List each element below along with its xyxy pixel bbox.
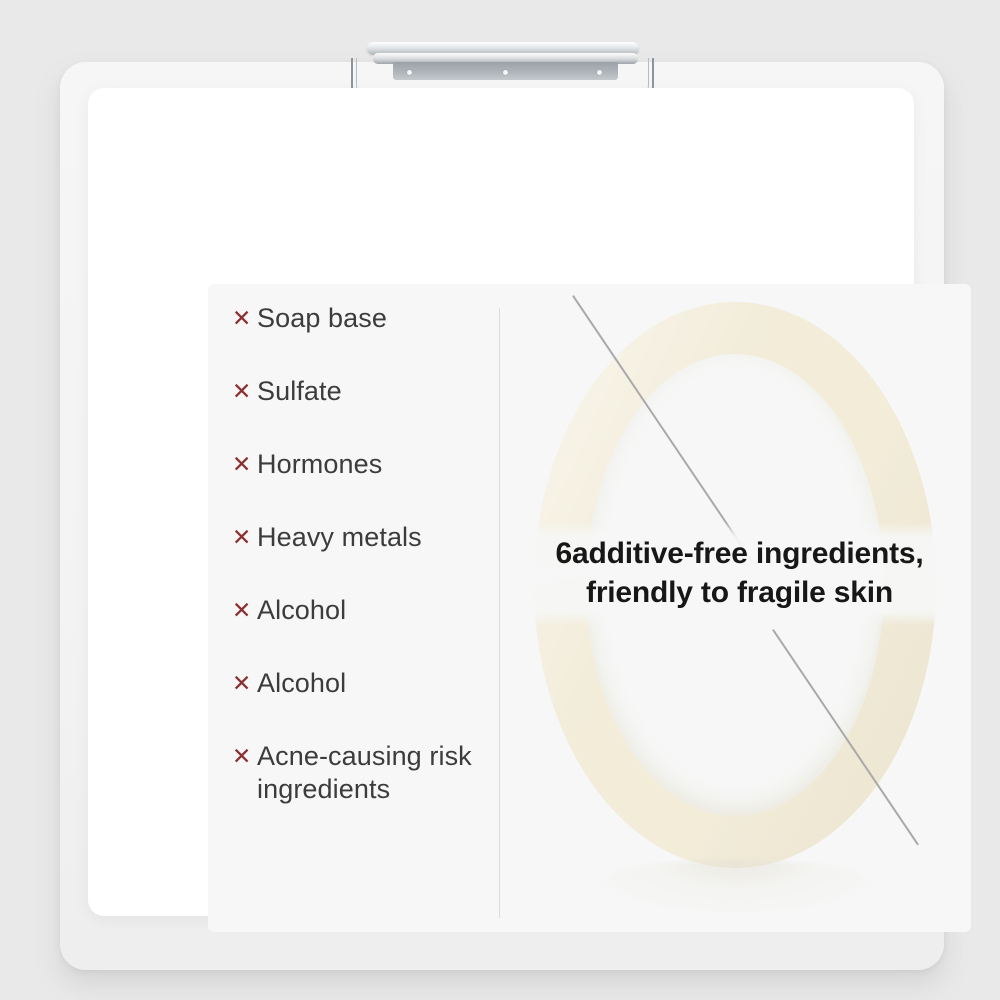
list-item: ✕ Soap base (232, 302, 494, 335)
list-item: ✕ Sulfate (232, 375, 494, 408)
list-item-label: Heavy metals (254, 521, 494, 554)
list-item-label: Alcohol (254, 594, 494, 627)
list-item: ✕ Alcohol (232, 594, 494, 627)
clip-rivet-icon (597, 70, 602, 75)
list-item-label: Acne-causing risk ingredients (254, 740, 494, 806)
list-item-label: Sulfate (254, 375, 494, 408)
list-item-label: Alcohol (254, 667, 494, 700)
content-panel: ✕ Soap base ✕ Sulfate ✕ Hormones ✕ Heavy… (208, 284, 971, 932)
excluded-ingredients-list: ✕ Soap base ✕ Sulfate ✕ Hormones ✕ Heavy… (232, 302, 494, 914)
headline: 6additive-free ingredients, friendly to … (500, 522, 971, 626)
x-cross-icon: ✕ (232, 740, 254, 773)
headline-line-2: friendly to fragile skin (504, 573, 971, 612)
list-item: ✕ Alcohol (232, 667, 494, 700)
list-item-label: Hormones (254, 448, 494, 481)
clip-rivet-icon (407, 70, 412, 75)
x-cross-icon: ✕ (232, 448, 254, 481)
visual-area: 6additive-free ingredients, friendly to … (500, 284, 971, 932)
x-cross-icon: ✕ (232, 594, 254, 627)
list-item: ✕ Heavy metals (232, 521, 494, 554)
clip-plate (393, 62, 618, 80)
list-item-label: Soap base (254, 302, 494, 335)
x-cross-icon: ✕ (232, 302, 254, 335)
list-item: ✕ Acne-causing risk ingredients (232, 740, 494, 806)
x-cross-icon: ✕ (232, 521, 254, 554)
headline-line-1: 6additive-free ingredients, (504, 534, 971, 573)
clip-rivet-icon (503, 70, 508, 75)
x-cross-icon: ✕ (232, 667, 254, 700)
list-item: ✕ Hormones (232, 448, 494, 481)
product-infographic-card: ✕ Soap base ✕ Sulfate ✕ Hormones ✕ Heavy… (0, 0, 1000, 1000)
x-cross-icon: ✕ (232, 375, 254, 408)
ring-reflection (596, 860, 876, 912)
paper-sheet: ✕ Soap base ✕ Sulfate ✕ Hormones ✕ Heavy… (88, 88, 914, 916)
